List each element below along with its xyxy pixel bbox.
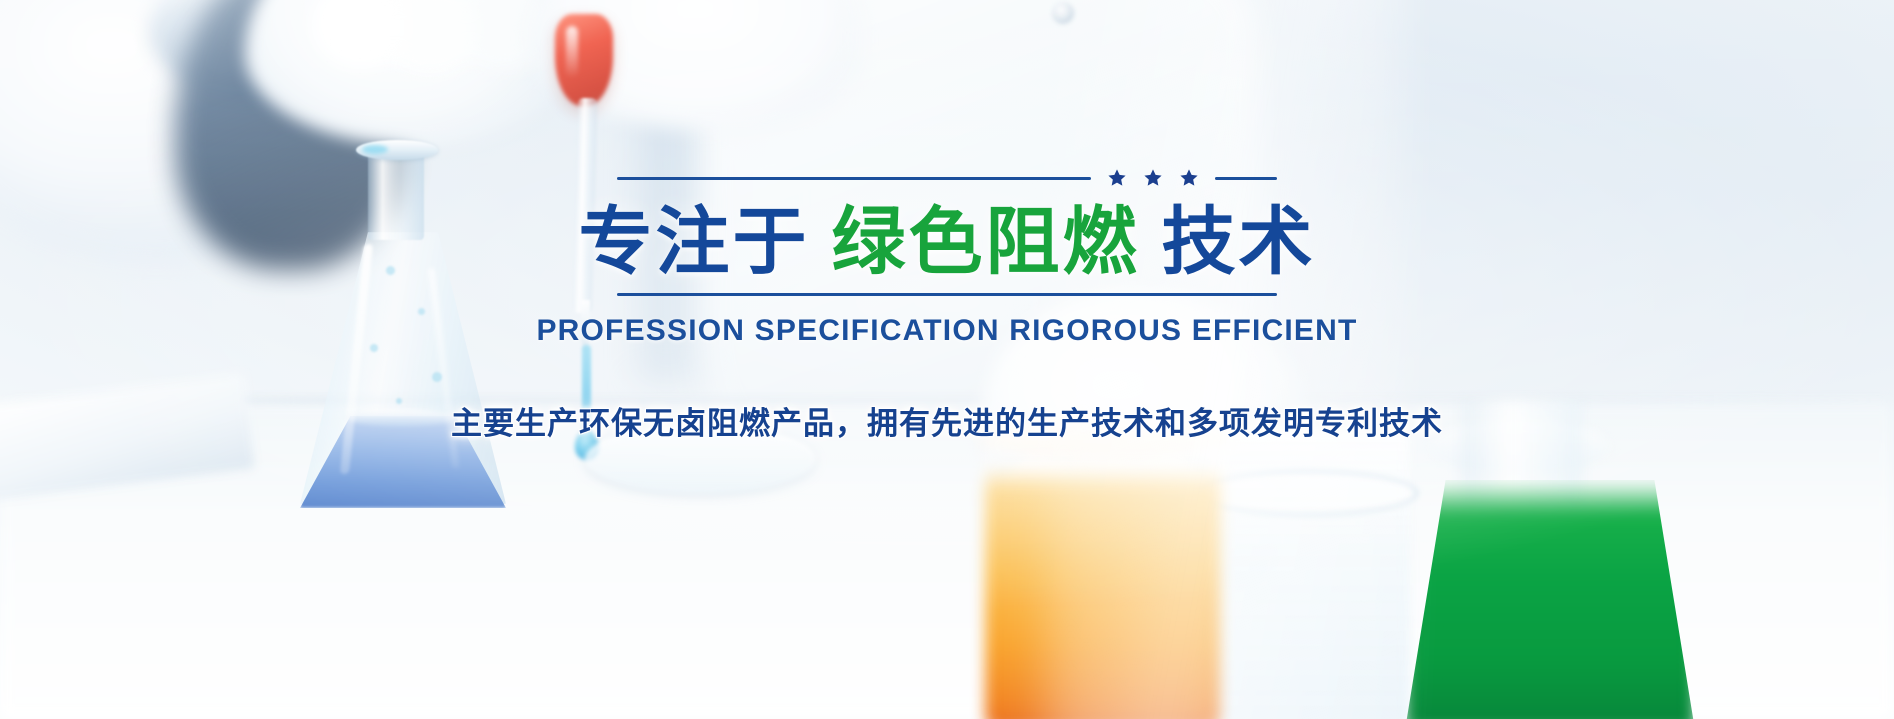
star-icon [1107,168,1127,188]
star-icon [1143,168,1163,188]
headline-part-2: 绿色阻燃 [832,200,1140,283]
banner-text-block: 专注于绿色阻燃技术 PROFESSION SPECIFICATION RIGOR… [0,168,1894,443]
page-title: 专注于绿色阻燃技术 [579,204,1316,281]
star-icon [1179,168,1199,188]
pipette-red-bulb [555,14,613,106]
star-group [1107,168,1199,188]
divider-line-right [1215,177,1277,180]
lab-coat-button [1052,2,1074,24]
headline-part-1: 专注于 [579,200,810,283]
clear-beaker-rim [1198,470,1418,516]
pipette-bulb-highlight [566,26,578,78]
top-divider-with-stars [617,168,1277,188]
headline-underline [617,293,1277,296]
hero-banner: 专注于绿色阻燃技术 PROFESSION SPECIFICATION RIGOR… [0,0,1894,719]
divider-line-left [617,177,1091,180]
tagline-chinese: 主要生产环保无卤阻燃产品，拥有先进的生产技术和多项发明专利技术 [451,398,1443,443]
flask-lip-tint [362,145,388,154]
green-liquid-flask [1405,480,1695,719]
subtitle-english: PROFESSION SPECIFICATION RIGOROUS EFFICI… [536,314,1357,348]
headline-part-3: 技术 [1162,200,1316,283]
orange-beaker [985,430,1220,719]
